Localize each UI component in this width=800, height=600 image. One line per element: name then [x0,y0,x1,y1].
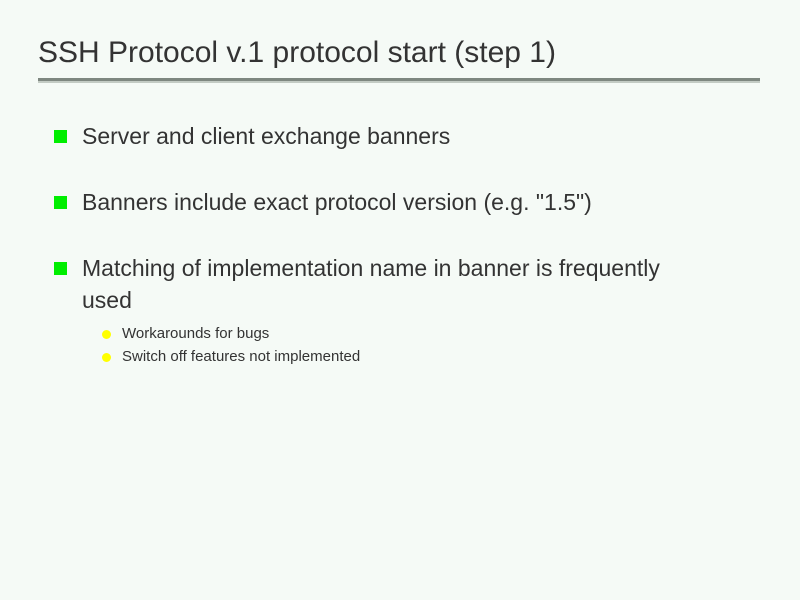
list-item-label: Server and client exchange banners [82,120,682,152]
dot-bullet-icon [102,330,111,339]
sub-list-item: Switch off features not implemented [100,345,754,368]
list-item-label: Matching of implementation name in banne… [82,252,682,316]
list-item: Matching of implementation name in banne… [54,252,754,368]
title-divider [38,78,760,83]
sub-list-item: Workarounds for bugs [100,322,754,345]
square-bullet-icon [54,130,67,143]
slide-body: Server and client exchange banners Banne… [54,120,754,368]
square-bullet-icon [54,262,67,275]
sub-list-item-label: Workarounds for bugs [122,325,269,342]
list-item-label: Banners include exact protocol version (… [82,186,682,218]
sub-list: Workarounds for bugs Switch off features… [82,322,754,368]
dot-bullet-icon [102,353,111,362]
list-item: Server and client exchange banners [54,120,754,152]
slide-canvas: SSH Protocol v.1 protocol start (step 1)… [0,0,800,600]
slide-header: SSH Protocol v.1 protocol start (step 1) [38,34,760,83]
sub-list-item-label: Switch off features not implemented [122,348,360,365]
page-title: SSH Protocol v.1 protocol start (step 1) [38,34,760,72]
list-item: Banners include exact protocol version (… [54,186,754,218]
square-bullet-icon [54,196,67,209]
